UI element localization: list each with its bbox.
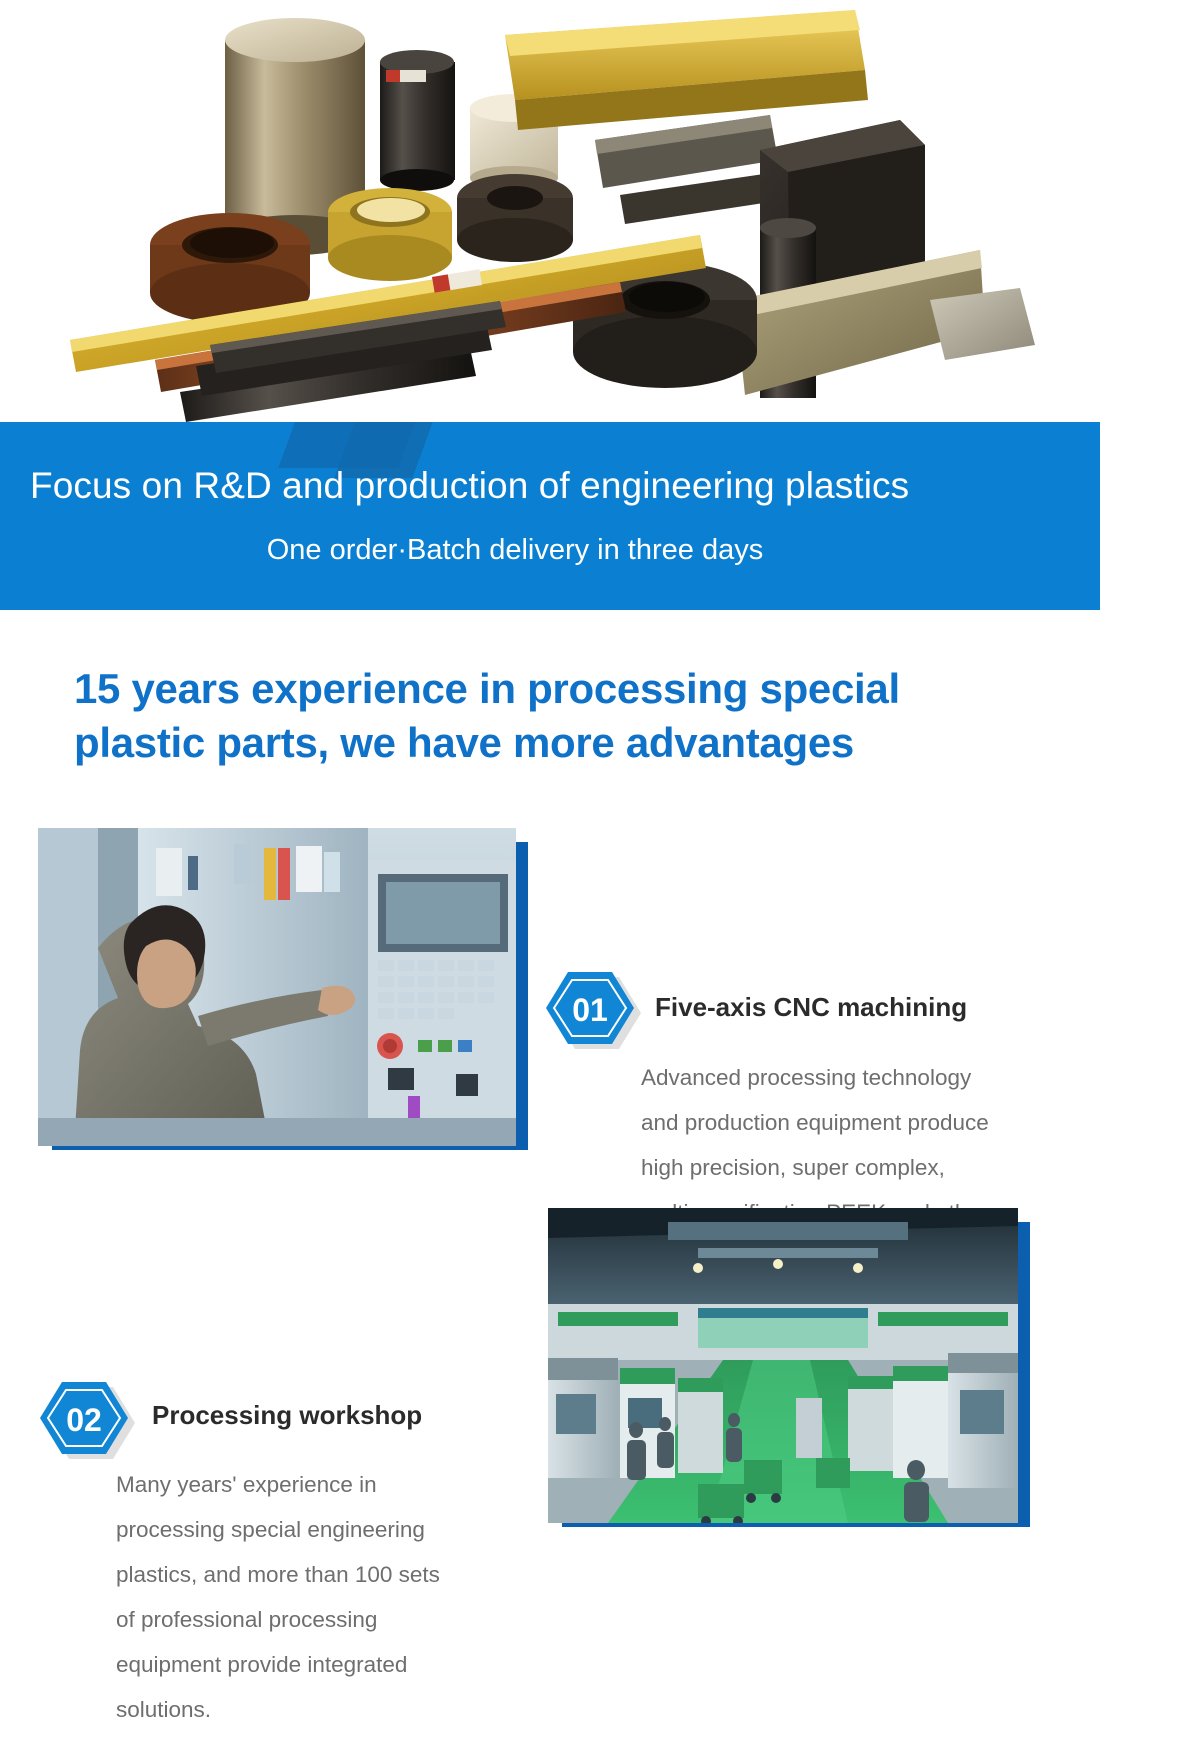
banner-headline: Focus on R&D and production of engineeri… — [30, 465, 909, 507]
feature-1-image — [38, 828, 516, 1146]
feature-1-title: Five-axis CNC machining — [655, 992, 967, 1023]
hero-product-collage — [0, 0, 1200, 425]
product-steel-plate — [930, 288, 1035, 360]
product-black-cylinder — [380, 50, 455, 191]
headline-line-2: plastic parts, we have more advantages — [74, 716, 1074, 770]
feature-1-body-line: high precision, super complex, — [641, 1145, 1071, 1190]
feature-2-body-line: Many years' experience in — [116, 1462, 536, 1507]
workshop-photo-illustration — [548, 1208, 1018, 1523]
product-yellow-ring — [328, 188, 452, 281]
feature-2-body-line: equipment provide integrated — [116, 1642, 536, 1687]
feature-1-body-line: and production equipment produce — [641, 1100, 1071, 1145]
feature-1-frame-right — [516, 842, 528, 1150]
feature-2-body: Many years' experience in processing spe… — [116, 1462, 536, 1732]
banner-subheadline: One order·Batch delivery in three days — [0, 534, 1030, 567]
feature-2-frame-right — [1018, 1222, 1030, 1527]
product-collage-illustration — [0, 0, 1200, 425]
headline-line-1: 15 years experience in processing specia… — [74, 662, 1074, 716]
section-headline: 15 years experience in processing specia… — [74, 662, 1074, 770]
feature-1-body-line: Advanced processing technology — [641, 1055, 1071, 1100]
feature-2-number: 02 — [66, 1402, 102, 1438]
feature-2-number-badge: 02 — [38, 1378, 130, 1458]
feature-2-body-line: solutions. — [116, 1687, 536, 1732]
feature-2-body-line: of professional processing — [116, 1597, 536, 1642]
feature-2-image — [548, 1208, 1018, 1523]
product-yellow-slab — [505, 10, 868, 130]
feature-2-title: Processing workshop — [152, 1400, 422, 1431]
feature-2-body-line: plastics, and more than 100 sets — [116, 1552, 536, 1597]
feature-1-number-badge: 01 — [544, 968, 636, 1048]
feature-1-number: 01 — [572, 992, 608, 1028]
cnc-operator-photo-illustration — [38, 828, 516, 1146]
promo-banner: Focus on R&D and production of engineeri… — [0, 422, 1100, 610]
feature-2-body-line: processing special engineering — [116, 1507, 536, 1552]
product-dark-ring-mid — [457, 174, 573, 262]
